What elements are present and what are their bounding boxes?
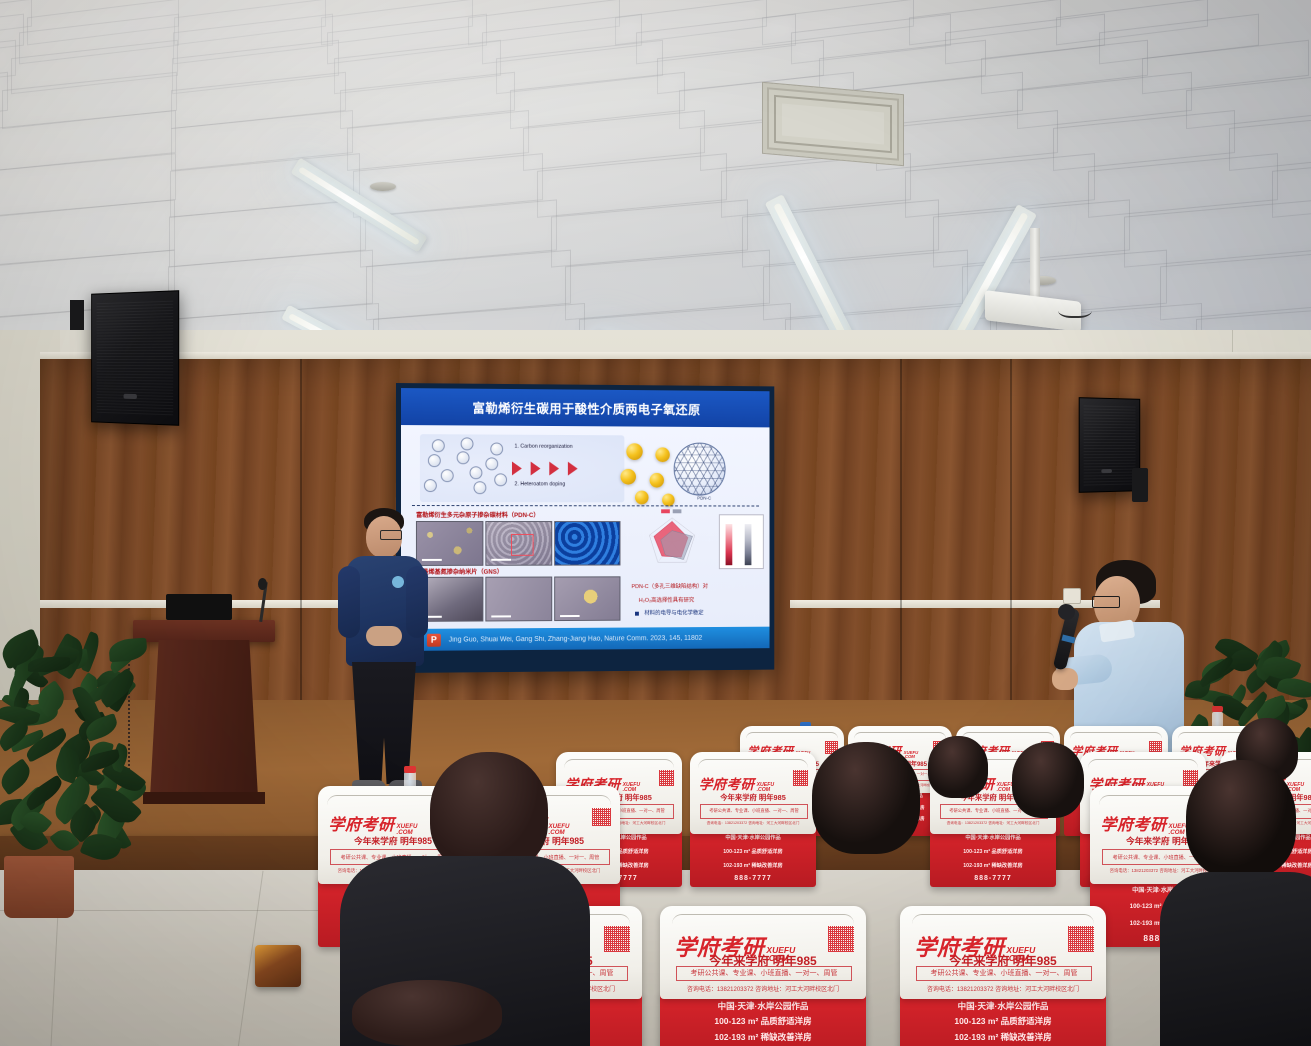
fullerene-label: PDN-C xyxy=(697,496,711,501)
nanoparticle-icon xyxy=(650,473,664,488)
process-arrow-icon xyxy=(531,462,541,476)
carbon-cluster-icon xyxy=(473,482,486,495)
podium-base xyxy=(143,792,265,804)
chair-phone-line: 咨询电话：13821203372 咨询地址：河工大河畔校区北门 xyxy=(690,821,816,826)
qr-code[interactable] xyxy=(1068,926,1094,952)
micrograph-2 xyxy=(485,521,552,566)
audience-head xyxy=(430,752,548,872)
process-arrow-icon xyxy=(549,462,559,476)
projection-screen: 富勒烯衍生碳用于酸性介质两电子氧还原 1. Carbon reorganizat… xyxy=(396,383,774,673)
wall-trim-upper xyxy=(40,352,1311,359)
chair-brand-row: 学府考研 XUEFU.COM xyxy=(329,811,418,835)
wall-speaker-right xyxy=(1079,397,1141,493)
slide-citation-bar: Jing Guo, Shuai Wei, Gang Shi, Zhang-Jia… xyxy=(401,627,770,651)
audience-member xyxy=(352,980,502,1046)
carbon-cluster-icon xyxy=(461,437,474,450)
carbon-cluster-icon xyxy=(428,454,441,467)
wood-panel-seam-3 xyxy=(1010,359,1012,739)
bottle-cap-3 xyxy=(1212,706,1223,712)
projector-cable xyxy=(1058,300,1092,318)
micrograph-6 xyxy=(554,577,620,622)
cover-seam xyxy=(1070,732,1162,739)
chair-services-box: 考研公共课、专业课、小班直播、一对一、周管 xyxy=(916,966,1091,982)
audience-head xyxy=(1186,760,1296,878)
radar-chart xyxy=(628,513,716,571)
chair-slogan: 今年来学府 明年985 xyxy=(690,792,816,803)
chair-red-line-3: 102-193 m² 稀缺改善洋房 xyxy=(900,1031,1106,1043)
citation-text: Jing Guo, Shuai Wei, Gang Shi, Zhang-Jia… xyxy=(449,634,703,643)
conclusion-line-1: PDN-C（多孔三维缺陷结构）对 xyxy=(631,582,707,590)
speaker-bracket-right xyxy=(1132,468,1148,502)
nanoparticle-icon xyxy=(635,491,649,505)
chair-red-line-2: 100-123 m² 品质舒适洋房 xyxy=(930,848,1056,855)
illustration-step1-label: 1. Carbon reorganization xyxy=(514,444,572,450)
slide-illustration: 1. Carbon reorganization 2. Heteroatom d… xyxy=(420,434,624,502)
process-arrow-icon xyxy=(567,462,577,476)
audience-member xyxy=(430,752,548,872)
cover-seam xyxy=(1088,759,1199,767)
audience-head xyxy=(812,742,920,854)
carbon-cluster-icon xyxy=(494,474,507,487)
bottle-cap-1 xyxy=(404,766,416,773)
chair-brand-row: 学府考研 XUEFU.COM xyxy=(1101,811,1190,835)
chair-phone-line: 咨询电话：13821203372 咨询地址：河工大河畔校区北门 xyxy=(900,984,1106,993)
chair-red-line-2: 100-123 m² 品质舒适洋房 xyxy=(660,1015,866,1027)
chair-headrest-cover: 学府考研 XUEFU.COM 今年来学府 明年985 考研公共课、专业课、小班直… xyxy=(660,906,866,999)
chair-red-line-1: 中国·天津·水岸公园作品 xyxy=(660,1000,866,1012)
chair-red-line-2: 100-123 m² 品质舒适洋房 xyxy=(900,1015,1106,1027)
chair-services-box: 考研公共课、专业课、小班直播、一对一、周管 xyxy=(676,966,851,982)
fullerene-molecule-icon xyxy=(674,442,726,495)
presenter-arm-right xyxy=(406,566,428,638)
chair-red-line-4: 888-7777 xyxy=(690,875,816,882)
nanoparticle-icon xyxy=(655,448,669,463)
podium-microphone-head xyxy=(258,578,267,590)
qr-code[interactable] xyxy=(828,926,854,952)
audience-chair[interactable]: 中国·天津·水岸公园作品 100-123 m² 品质舒适洋房 102-193 m… xyxy=(690,752,816,884)
presentation-slide: 富勒烯衍生碳用于酸性介质两电子氧还原 1. Carbon reorganizat… xyxy=(401,388,770,651)
cover-seam xyxy=(698,759,809,767)
audience-head xyxy=(1012,742,1084,818)
wall-speaker-left xyxy=(91,290,179,426)
plant-leaf xyxy=(0,758,35,795)
chair-red-line-3: 102-193 m² 稀缺改善洋房 xyxy=(690,862,816,869)
presenter-hands xyxy=(366,626,402,646)
chair-red-line-2: 100-123 m² 品质舒适洋房 xyxy=(690,848,816,855)
radar-legend xyxy=(661,509,681,513)
chair-red-line-3: 102-193 m² 稀缺改善洋房 xyxy=(930,862,1056,869)
chair-phone-line: 咨询电话：13821203372 咨询地址：河工大河畔校区北门 xyxy=(930,821,1056,826)
slide-body: 1. Carbon reorganization 2. Heteroatom d… xyxy=(401,425,770,651)
chair-seat-back: 中国·天津·水岸公园作品 100-123 m² 品质舒适洋房 102-193 m… xyxy=(900,993,1106,1046)
cover-seam xyxy=(672,914,853,923)
chair-headrest-cover: 学府考研 XUEFU.COM 今年来学府 明年985 考研公共课、专业课、小班直… xyxy=(900,906,1106,999)
audience-member xyxy=(928,736,988,798)
presenter-arm-left xyxy=(338,566,360,638)
chair-services-box: 考研公共课、专业课、小班直播、一对一、周管 xyxy=(700,804,808,818)
qr-code[interactable] xyxy=(604,926,630,952)
lecture-hall-photo: 富勒烯衍生碳用于酸性介质两电子氧还原 1. Carbon reorganizat… xyxy=(0,0,1311,1046)
wooden-stool xyxy=(255,945,301,987)
presenter-glasses xyxy=(380,530,402,540)
audience-member xyxy=(1012,742,1084,818)
illustration-step2-label: 2. Heteroatom doping xyxy=(514,482,565,488)
audience-head xyxy=(928,736,988,798)
chair-seat-back: 中国·天津·水岸公园作品 100-123 m² 品质舒适洋房 102-193 m… xyxy=(660,993,866,1046)
slide-divider xyxy=(412,505,758,506)
cover-seam xyxy=(746,732,838,739)
slide-title: 富勒烯衍生碳用于酸性介质两电子氧还原 xyxy=(472,398,700,418)
slide-title-bar: 富勒烯衍生碳用于酸性介质两电子氧还原 xyxy=(401,388,770,427)
chair-seat-back: 中国·天津·水岸公园作品 100-123 m² 品质舒适洋房 102-193 m… xyxy=(930,829,1056,887)
audience-head xyxy=(352,980,502,1046)
wood-panel-seam-2 xyxy=(900,359,902,759)
carbon-cluster-icon xyxy=(432,439,445,452)
podium-top xyxy=(133,620,275,642)
chair-phone-line: 咨询电话：13821203372 咨询地址：河工大河畔校区北门 xyxy=(660,984,866,993)
potted-plant-left xyxy=(0,626,130,926)
nanoparticle-icon xyxy=(626,443,642,460)
audience-member xyxy=(1186,760,1296,878)
process-arrow-icon xyxy=(512,461,522,475)
micrograph-3 xyxy=(554,521,620,566)
carbon-cluster-icon xyxy=(469,467,482,480)
hvac-diffuser-icon xyxy=(762,82,904,166)
brand-name-cn: 学府考研 xyxy=(1101,811,1167,835)
chair-red-line-1: 中国·天津·水岸公园作品 xyxy=(690,834,816,841)
qr-code[interactable] xyxy=(659,770,675,786)
projector-mount-pole xyxy=(1030,228,1040,300)
nanoparticle-icon xyxy=(620,469,636,485)
carbon-cluster-icon xyxy=(424,479,437,492)
podium-body[interactable] xyxy=(150,640,258,798)
audience-shoulders-2 xyxy=(1160,872,1311,1046)
audience-chair[interactable]: 中国·天津·水岸公园作品 100-123 m² 品质舒适洋房 102-193 m… xyxy=(660,906,866,1046)
cover-seam xyxy=(912,914,1093,923)
brand-name-cn: 学府考研 xyxy=(329,811,395,835)
carbon-cluster-icon xyxy=(440,469,453,482)
podium-laptop[interactable] xyxy=(166,594,232,620)
plant-pot-left xyxy=(4,856,74,918)
cover-seam xyxy=(564,759,675,767)
chair-brand-row: 学府考研 XUEFU.COM xyxy=(699,773,774,793)
presenter-logo xyxy=(392,576,404,588)
audience-chair[interactable]: 中国·天津·水岸公园作品 100-123 m² 品质舒适洋房 102-193 m… xyxy=(900,906,1106,1046)
micrograph-5 xyxy=(485,577,552,622)
audience-member xyxy=(812,742,920,854)
qr-code[interactable] xyxy=(793,770,809,786)
chair-headrest-cover: 学府考研 XUEFU.COM 今年来学府 明年985 考研公共课、专业课、小班直… xyxy=(690,752,816,834)
smoke-detector-icon xyxy=(370,182,396,191)
carbon-cluster-icon xyxy=(490,443,503,456)
chair-red-line-3: 102-193 m² 稀缺改善洋房 xyxy=(660,1031,866,1043)
chair-red-line-1: 中国·天津·水岸公园作品 xyxy=(930,834,1056,841)
conclusion-line-2: H₂O₂高选择性具有研究 xyxy=(639,595,694,603)
chair-red-line-1: 中国·天津·水岸公园作品 xyxy=(900,1000,1106,1012)
qr-code[interactable] xyxy=(592,808,611,827)
carbon-cluster-icon xyxy=(457,452,470,465)
questioner-glasses xyxy=(1092,596,1120,608)
nanoparticle-icon xyxy=(663,493,676,506)
carbon-cluster-icon xyxy=(486,457,499,470)
bullet-marker xyxy=(635,612,639,616)
brand-name-cn: 学府考研 xyxy=(699,773,755,793)
bullet-1: 材料的电导与电化学稳定 xyxy=(644,609,703,617)
questioner-hand xyxy=(1052,668,1078,690)
presenter xyxy=(330,508,440,808)
chair-seat-back: 中国·天津·水岸公园作品 100-123 m² 品质舒适洋房 102-193 m… xyxy=(690,829,816,887)
chair-red-line-4: 888-7777 xyxy=(930,875,1056,882)
colormap-legend xyxy=(719,514,764,569)
